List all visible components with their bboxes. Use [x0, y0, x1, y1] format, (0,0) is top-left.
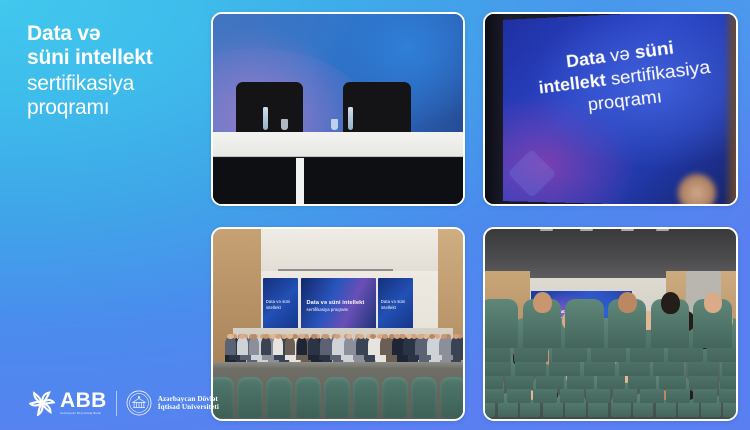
- abb-name: ABB: [60, 390, 107, 411]
- person-silhouette: [368, 337, 378, 355]
- person-silhouette: [356, 337, 366, 355]
- poster-canvas: Data və süni intellekt sertifikasiya pro…: [0, 0, 750, 430]
- abb-logo: ABB Azərbaycan Beynəlxalq Bankı: [29, 390, 107, 416]
- desk-gap: [296, 158, 304, 204]
- person-silhouette: [451, 337, 461, 355]
- person-silhouette: [332, 337, 342, 355]
- person-silhouette: [308, 337, 318, 355]
- title-line-4: proqramı: [27, 96, 202, 120]
- wall-right-edge: [723, 14, 736, 204]
- ceiling-light: [620, 229, 633, 231]
- person-silhouette: [439, 337, 449, 355]
- person-silhouette: [225, 337, 235, 355]
- banner-text: Data və süni intellekt: [381, 299, 413, 312]
- person-silhouette: [392, 337, 402, 355]
- university-wordmark: Azərbaycan Dövlət İqtisad Universiteti: [158, 395, 219, 412]
- photo-hall: Data və süni intellekt sertifikasiya pro…: [483, 227, 738, 421]
- person-head: [299, 334, 305, 339]
- ceiling-light: [655, 229, 668, 231]
- university-seal-icon: [126, 390, 152, 416]
- title-line-3: sertifikasiya: [27, 72, 202, 96]
- title-line-2: süni intellekt: [27, 46, 202, 70]
- water-bottle: [263, 107, 268, 130]
- person-silhouette: [415, 337, 425, 355]
- banner-title: Data və süni intellekt: [266, 299, 290, 310]
- screen-graphic-diamond: [507, 148, 556, 197]
- chair: [236, 82, 304, 131]
- person-silhouette: [403, 337, 413, 355]
- title-line-1: Data və: [27, 22, 202, 46]
- banner-text: Data və süni intellekt: [266, 299, 298, 312]
- screen-left-edge: [485, 14, 503, 204]
- person-silhouette: [344, 337, 354, 355]
- person-silhouette: [273, 337, 283, 355]
- desk-front: [213, 158, 463, 204]
- ceiling-rail: [278, 269, 393, 271]
- water-bottle: [348, 107, 353, 130]
- person-silhouette: [320, 337, 330, 355]
- auditorium-seat: [382, 377, 408, 418]
- abb-tagline: Azərbaycan Beynəlxalq Bankı: [60, 413, 107, 416]
- logo-divider: [116, 391, 117, 416]
- auditorium-seat: [440, 377, 463, 418]
- person-silhouette: [427, 337, 437, 355]
- water-glass: [281, 119, 288, 130]
- ceiling-light: [540, 229, 553, 231]
- audience-seat: [485, 299, 518, 347]
- chair: [343, 82, 411, 131]
- photo-panel-speakers: [211, 12, 465, 206]
- page-title: Data və süni intellekt sertifikasiya pro…: [27, 22, 202, 119]
- audience-head: [533, 292, 552, 313]
- water-glass: [331, 119, 338, 130]
- abb-wordmark: ABB Azərbaycan Beynəlxalq Bankı: [60, 390, 107, 416]
- audience-seat: [565, 299, 603, 347]
- person-head: [394, 334, 400, 339]
- logo-lockup: ABB Azərbaycan Beynəlxalq Bankı Azərbayc…: [29, 390, 219, 416]
- auditorium-seat: [411, 377, 437, 418]
- screen-word-data: Data: [566, 46, 607, 71]
- abb-pinwheel-icon: [29, 390, 55, 416]
- audience-head: [618, 292, 637, 313]
- person-head: [311, 334, 317, 339]
- banner-title: Data və süni intellekt: [381, 299, 405, 310]
- banner-subtitle: sertifikasiya proqramı: [307, 307, 349, 312]
- auditorium-seat: [295, 377, 321, 418]
- banner-title: Data və süni intellekt: [307, 300, 365, 306]
- person-head: [227, 334, 233, 339]
- person-silhouette: [237, 337, 247, 355]
- person-silhouette: [380, 337, 390, 355]
- person-head: [417, 334, 423, 339]
- auditorium-seat: [324, 377, 350, 418]
- screen-word-suni: süni: [634, 37, 675, 62]
- university-line-1: Azərbaycan Dövlət: [158, 395, 219, 403]
- university-line-2: İqtisad Universiteti: [158, 403, 219, 411]
- audience-seating: [485, 320, 736, 419]
- auditorium-seat: [237, 377, 263, 418]
- person-silhouette: [249, 337, 259, 355]
- person-head: [322, 334, 328, 339]
- person-silhouette: [261, 337, 271, 355]
- person-silhouette: [285, 337, 295, 355]
- photo-panel-screen: Data və süni intellekt sertifikasiya pro…: [483, 12, 738, 206]
- person-silhouette: [297, 337, 307, 355]
- person-head: [406, 334, 412, 339]
- screen-word-ve: və: [610, 43, 632, 65]
- screen-title: Data və süni intellekt sertifikasiya pro…: [515, 29, 736, 123]
- audience-head: [704, 292, 723, 313]
- audience-head: [661, 292, 680, 314]
- auditorium-seat: [266, 377, 292, 418]
- auditorium-seating: [213, 362, 463, 419]
- ceiling-light: [580, 229, 593, 231]
- banner-text: Data və süni intellekt sertifikasiya pro…: [307, 299, 365, 314]
- auditorium-seat: [353, 377, 379, 418]
- university-logo: Azərbaycan Dövlət İqtisad Universiteti: [126, 390, 219, 416]
- photo-group: Data və süni intellekt Data və süni inte…: [211, 227, 465, 421]
